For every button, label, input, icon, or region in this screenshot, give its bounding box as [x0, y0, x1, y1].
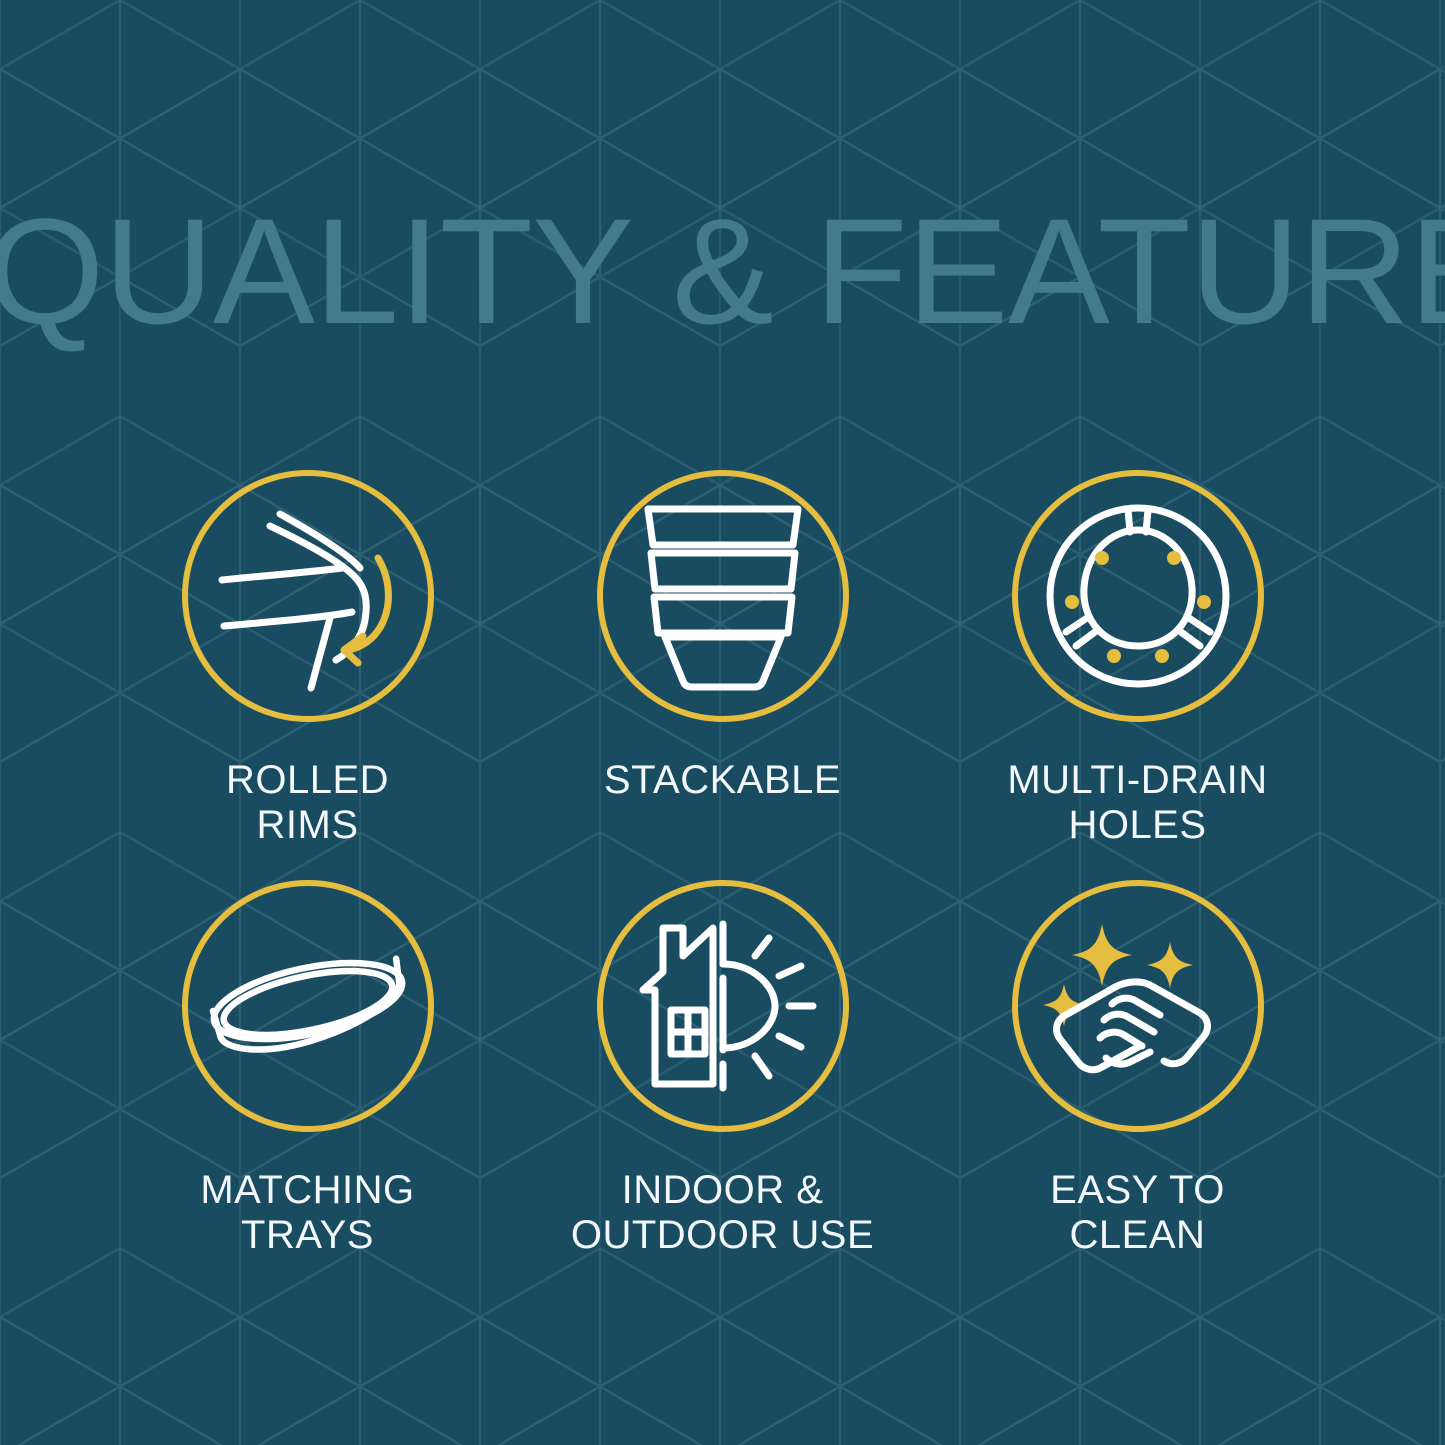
- feature-easy-to-clean[interactable]: EASY TO CLEAN: [930, 880, 1345, 1290]
- icon-ring-multi-drain-holes: [1012, 470, 1264, 722]
- feature-label-easy-to-clean: EASY TO CLEAN: [1050, 1168, 1225, 1258]
- feature-grid: ROLLED RIMS STACKABL: [100, 470, 1345, 1290]
- feature-label-rolled-rims: ROLLED RIMS: [226, 758, 389, 848]
- feature-label-stackable: STACKABLE: [604, 758, 841, 803]
- feature-stackable[interactable]: STACKABLE: [515, 470, 930, 880]
- icon-ring-stackable: [597, 470, 849, 722]
- icon-ring-easy-to-clean: [1012, 880, 1264, 1132]
- feature-indoor-outdoor-use[interactable]: INDOOR & OUTDOOR USE: [515, 880, 930, 1290]
- icon-ring-rolled-rims: [182, 470, 434, 722]
- page-title: QUALITY & FEATURES: [0, 196, 1445, 346]
- icon-ring-indoor-outdoor: [597, 880, 849, 1132]
- icon-ring-matching-trays: [182, 880, 434, 1132]
- feature-label-indoor-outdoor: INDOOR & OUTDOOR USE: [571, 1168, 874, 1258]
- feature-label-matching-trays: MATCHING TRAYS: [200, 1168, 414, 1258]
- feature-multi-drain-holes[interactable]: MULTI-DRAIN HOLES: [930, 470, 1345, 880]
- feature-rolled-rims[interactable]: ROLLED RIMS: [100, 470, 515, 880]
- feature-label-multi-drain-holes: MULTI-DRAIN HOLES: [1007, 758, 1267, 848]
- feature-matching-trays[interactable]: MATCHING TRAYS: [100, 880, 515, 1290]
- feature-infographic: QUALITY & FEATURES: [0, 0, 1445, 1445]
